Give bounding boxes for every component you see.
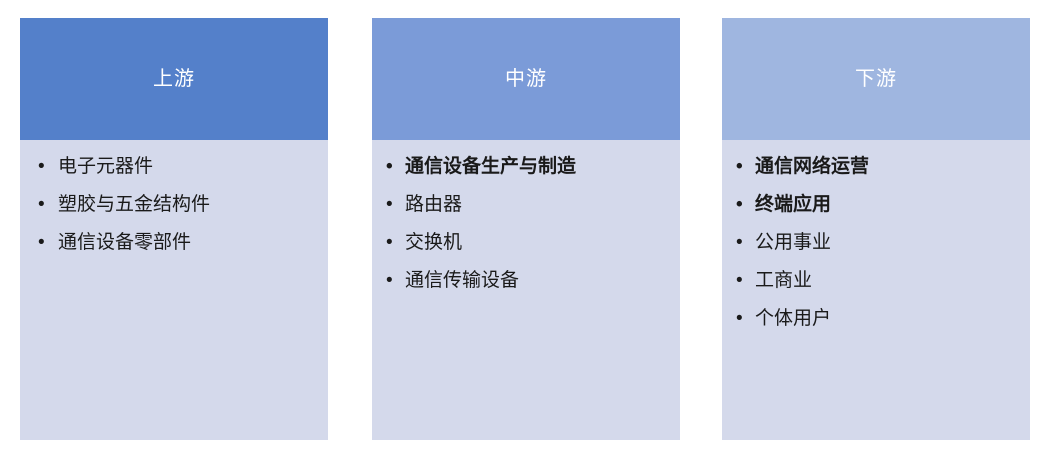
list-item[interactable]: • 工商业 — [722, 262, 1030, 300]
column-title-midstream: 中游 — [505, 66, 547, 92]
industry-chain-diagram: 上游 • 电子元器件 • 塑胶与五金结构件 • 通信设备零部件 中游 — [0, 0, 1048, 458]
column-header-midstream: 中游 — [372, 18, 680, 140]
column-title-downstream: 下游 — [855, 66, 897, 92]
bullet-icon: • — [386, 224, 398, 262]
column-downstream: 下游 • 通信网络运营 • 终端应用 • 公用事业 • 工商业 — [722, 18, 1030, 440]
list-item[interactable]: • 交换机 — [372, 224, 680, 262]
bullet-icon: • — [736, 224, 748, 262]
list-item[interactable]: • 通信设备生产与制造 — [372, 148, 680, 186]
column-midstream: 中游 • 通信设备生产与制造 • 路由器 • 交换机 • 通信传输设备 — [372, 18, 680, 440]
bullet-icon: • — [736, 300, 748, 338]
column-title-upstream: 上游 — [153, 66, 195, 92]
bullet-icon: • — [38, 148, 50, 186]
list-item[interactable]: • 电子元器件 — [20, 148, 328, 186]
column-upstream: 上游 • 电子元器件 • 塑胶与五金结构件 • 通信设备零部件 — [20, 18, 328, 440]
column-body-downstream: • 通信网络运营 • 终端应用 • 公用事业 • 工商业 • 个体用户 — [722, 140, 1030, 440]
list-item[interactable]: • 个体用户 — [722, 300, 1030, 338]
list-item[interactable]: • 塑胶与五金结构件 — [20, 186, 328, 224]
list-item-label: 通信设备零部件 — [58, 224, 191, 262]
bullet-icon: • — [386, 262, 398, 300]
bullet-icon: • — [386, 186, 398, 224]
list-item-label: 塑胶与五金结构件 — [58, 186, 210, 224]
bullet-icon: • — [736, 262, 748, 300]
bullet-icon: • — [736, 148, 748, 186]
bullet-icon: • — [38, 186, 50, 224]
list-item[interactable]: • 路由器 — [372, 186, 680, 224]
list-item-label: 通信网络运营 — [755, 148, 869, 186]
column-header-downstream: 下游 — [722, 18, 1030, 140]
item-list-upstream: • 电子元器件 • 塑胶与五金结构件 • 通信设备零部件 — [20, 148, 328, 262]
column-header-upstream: 上游 — [20, 18, 328, 140]
list-item-label: 个体用户 — [755, 300, 831, 338]
list-item[interactable]: • 终端应用 — [722, 186, 1030, 224]
item-list-midstream: • 通信设备生产与制造 • 路由器 • 交换机 • 通信传输设备 — [372, 148, 680, 300]
bullet-icon: • — [736, 186, 748, 224]
list-item[interactable]: • 公用事业 — [722, 224, 1030, 262]
bullet-icon: • — [386, 148, 398, 186]
bullet-icon: • — [38, 224, 50, 262]
list-item-label: 公用事业 — [755, 224, 831, 262]
list-item-label: 交换机 — [405, 224, 462, 262]
list-item-label: 工商业 — [755, 262, 812, 300]
list-item-label: 路由器 — [405, 186, 462, 224]
column-body-midstream: • 通信设备生产与制造 • 路由器 • 交换机 • 通信传输设备 — [372, 140, 680, 440]
list-item-label: 通信传输设备 — [405, 262, 519, 300]
list-item[interactable]: • 通信设备零部件 — [20, 224, 328, 262]
item-list-downstream: • 通信网络运营 • 终端应用 • 公用事业 • 工商业 • 个体用户 — [722, 148, 1030, 338]
list-item-label: 通信设备生产与制造 — [405, 148, 576, 186]
list-item[interactable]: • 通信传输设备 — [372, 262, 680, 300]
column-body-upstream: • 电子元器件 • 塑胶与五金结构件 • 通信设备零部件 — [20, 140, 328, 440]
list-item-label: 终端应用 — [755, 186, 831, 224]
list-item-label: 电子元器件 — [58, 148, 153, 186]
list-item[interactable]: • 通信网络运营 — [722, 148, 1030, 186]
